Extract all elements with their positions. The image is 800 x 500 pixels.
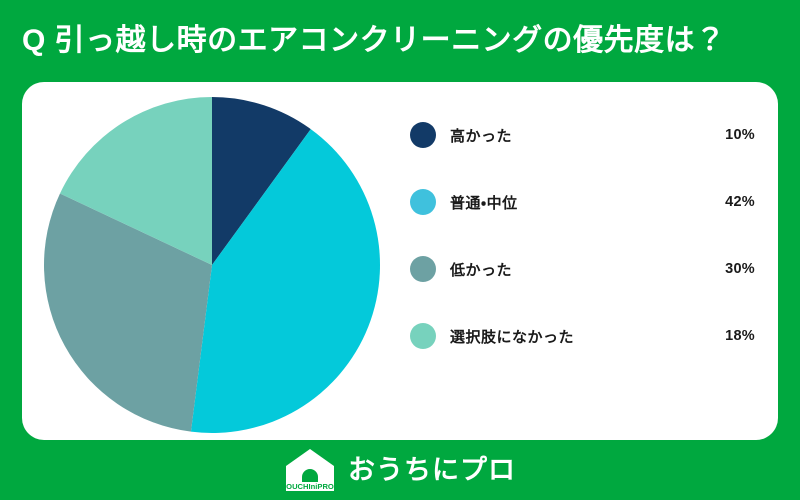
- legend-value: 10%: [725, 127, 755, 143]
- list-item: 高かった 10%: [410, 120, 755, 150]
- chart-legend: 高かった 10% 普通・中位 42% 低かった 30% 選択肢になかった 18%: [410, 120, 755, 410]
- legend-value: 18%: [725, 328, 755, 344]
- infographic-poster: Q 引っ越し時のエアコンクリーニングの優先度は？ 高かった 10% 普通・中位 …: [0, 0, 800, 500]
- legend-swatch-icon: [410, 323, 436, 349]
- house-logo-icon: OUCHIniPRO: [284, 447, 336, 493]
- pie-chart: [42, 95, 382, 435]
- pie-chart-svg: [42, 95, 382, 435]
- legend-label: 選択肢になかった: [450, 326, 574, 347]
- pie-slice-group: [44, 97, 380, 433]
- legend-label: 高かった: [450, 125, 512, 146]
- legend-value: 42%: [725, 194, 755, 210]
- legend-swatch-icon: [410, 122, 436, 148]
- footer: OUCHIniPRO おうちにプロ: [0, 440, 800, 500]
- legend-swatch-icon: [410, 189, 436, 215]
- legend-label: 低かった: [450, 259, 512, 280]
- legend-value: 30%: [725, 261, 755, 277]
- legend-label: 普通・中位: [450, 192, 518, 213]
- list-item: 低かった 30%: [410, 254, 755, 284]
- title-bar: Q 引っ越し時のエアコンクリーニングの優先度は？: [0, 0, 800, 82]
- page-title: Q 引っ越し時のエアコンクリーニングの優先度は？: [22, 26, 726, 56]
- brand-name: おうちにプロ: [348, 457, 516, 484]
- brand-logo: OUCHIniPRO おうちにプロ: [284, 447, 516, 493]
- legend-swatch-icon: [410, 256, 436, 282]
- list-item: 選択肢になかった 18%: [410, 321, 755, 351]
- list-item: 普通・中位 42%: [410, 187, 755, 217]
- logo-mark-text: OUCHIniPRO: [286, 482, 334, 491]
- content-card: 高かった 10% 普通・中位 42% 低かった 30% 選択肢になかった 18%: [22, 82, 778, 440]
